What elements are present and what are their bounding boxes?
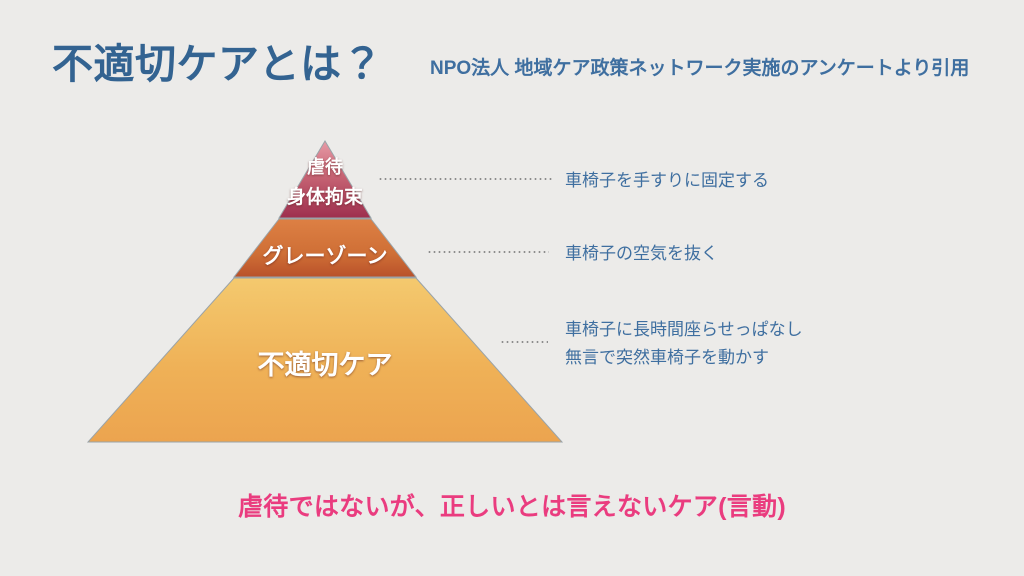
slide-header: 不適切ケアとは？ NPO法人 地域ケア政策ネットワーク実施のアンケートより引用 bbox=[0, 38, 1024, 98]
annotation-top: 車椅子を手すりに固定する bbox=[565, 167, 769, 195]
annotation-base: 車椅子に長時間座らせっぱなし 無言で突然車椅子を動かす bbox=[565, 316, 803, 372]
annotation-top-line-1: 車椅子を手すりに固定する bbox=[565, 167, 769, 195]
page-title: 不適切ケアとは？ bbox=[52, 38, 383, 90]
pyramid-shape bbox=[80, 132, 580, 452]
footer-caption: 虐待ではないが、正しいとは言えないケア(言動) bbox=[0, 489, 1024, 525]
page-subtitle-source: NPO法人 地域ケア政策ネットワーク実施のアンケートより引用 bbox=[430, 54, 969, 84]
annotation-base-line-2: 無言で突然車椅子を動かす bbox=[565, 344, 803, 372]
pyramid-diagram: 虐待 身体拘束 グレーゾーン 不適切ケア bbox=[80, 132, 580, 452]
leader-line-middle bbox=[427, 251, 549, 253]
annotation-base-line-1: 車椅子に長時間座らせっぱなし bbox=[565, 316, 803, 344]
annotation-middle-line-1: 車椅子の空気を抜く bbox=[565, 240, 718, 268]
pyramid-tier-gray-zone bbox=[234, 219, 416, 277]
leader-line-top bbox=[378, 178, 553, 180]
pyramid-tier-abuse bbox=[279, 141, 371, 218]
slide-canvas: 不適切ケアとは？ NPO法人 地域ケア政策ネットワーク実施のアンケートより引用 bbox=[0, 0, 1024, 576]
annotation-middle: 車椅子の空気を抜く bbox=[565, 240, 718, 268]
pyramid-tier-inappropriate-care bbox=[88, 278, 562, 442]
leader-line-base bbox=[500, 341, 548, 343]
